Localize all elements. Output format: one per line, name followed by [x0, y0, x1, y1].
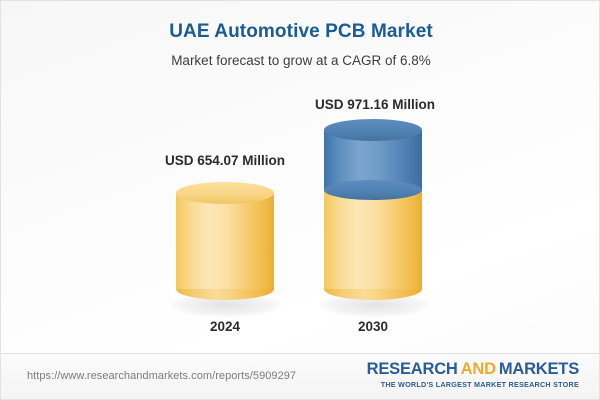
logo-wordmark: RESEARCHANDMARKETS — [367, 360, 579, 379]
logo-word-research: RESEARCH — [367, 360, 458, 378]
cylinder-cap-2030 — [324, 119, 422, 141]
research-and-markets-logo[interactable]: RESEARCHANDMARKETS THE WORLD'S LARGEST M… — [367, 360, 579, 390]
footer: https://www.researchandmarkets.com/repor… — [1, 354, 600, 400]
value-label-2024: USD 654.07 Million — [115, 153, 335, 168]
cylinder-cap-2024 — [176, 182, 274, 204]
report-url[interactable]: https://www.researchandmarkets.com/repor… — [27, 370, 296, 382]
cylinder-body-2024 — [176, 193, 274, 289]
value-label-2030: USD 971.16 Million — [265, 97, 485, 112]
chart-card: UAE Automotive PCB Market Market forecas… — [0, 0, 600, 400]
cylinder-body-base-2030 — [324, 189, 422, 289]
logo-word-markets: MARKETS — [499, 360, 579, 378]
logo-word-and: AND — [461, 360, 496, 378]
cylinder-2024[interactable] — [176, 182, 274, 306]
footer-separator — [1, 353, 600, 354]
cylinder-2030[interactable] — [324, 119, 422, 306]
category-label-2024: 2024 — [145, 319, 305, 334]
cylinder-divider-2030 — [324, 180, 422, 200]
plot-area: USD 654.07 Million 2024 USD 971.16 Milli… — [1, 1, 600, 353]
logo-tagline: THE WORLD'S LARGEST MARKET RESEARCH STOR… — [367, 380, 579, 390]
category-label-2030: 2030 — [293, 319, 453, 334]
